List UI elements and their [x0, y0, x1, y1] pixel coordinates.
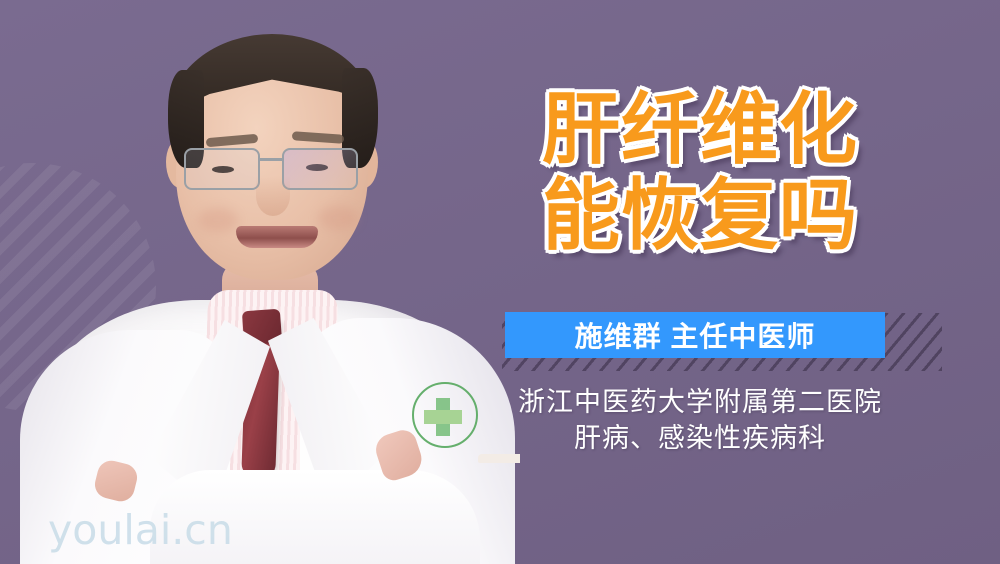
- doctor-mouth: [236, 226, 318, 248]
- title-line-2: 能恢复吗: [480, 172, 920, 258]
- doctor-crossed-arms: [150, 470, 480, 564]
- glasses-lens-left: [184, 148, 260, 190]
- video-cover-card: 肝纤维化 能恢复吗 施维群 主任中医师 浙江中医药大学附属第二医院 肝病、感染性…: [0, 0, 1000, 564]
- doctor-cheek-right: [318, 206, 358, 230]
- doctor-cheek-left: [198, 208, 238, 232]
- title-line-1: 肝纤维化: [480, 86, 920, 172]
- glasses-lens-right: [282, 148, 358, 190]
- text-column: 肝纤维化 能恢复吗 施维群 主任中医师 浙江中医药大学附属第二医院 肝病、感染性…: [480, 0, 1000, 564]
- affiliation-hospital: 浙江中医药大学附属第二医院: [480, 384, 920, 420]
- doctor-nose: [256, 176, 290, 216]
- hospital-cross-emblem-icon: [412, 382, 478, 448]
- page-title: 肝纤维化 能恢复吗: [480, 86, 920, 258]
- speaker-name-badge: 施维群 主任中医师: [505, 312, 885, 358]
- glasses-bridge: [260, 158, 282, 161]
- doctor-portrait: [0, 0, 520, 564]
- affiliation-block: 浙江中医药大学附属第二医院 肝病、感染性疾病科: [480, 384, 920, 456]
- speaker-name-text: 施维群 主任中医师: [575, 315, 816, 355]
- affiliation-department: 肝病、感染性疾病科: [480, 420, 920, 456]
